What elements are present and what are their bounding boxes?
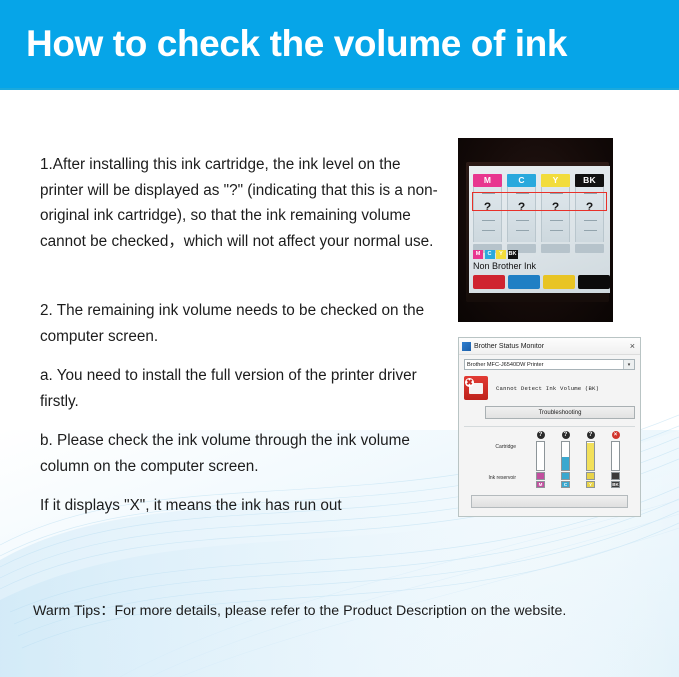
status-monitor-titlebar: Brother Status Monitor × (459, 338, 640, 355)
cartridge-fill-y (587, 443, 594, 470)
reservoir-box-c (561, 472, 570, 480)
lcd-tick (516, 230, 529, 231)
lcd-bottom-button-row (473, 275, 610, 289)
status-error-icon-bk: × (612, 431, 620, 439)
status-question-icon-m: ? (537, 431, 545, 439)
lcd-mini-chip-bk: BK (508, 250, 518, 259)
cartridge-row-label: Cartridge (495, 444, 516, 450)
gauge-chip-y: Y (586, 481, 595, 488)
non-brother-ink-label: Non Brother Ink (473, 261, 536, 271)
lcd-tick (584, 220, 597, 221)
ink-gauge-c: ? C (560, 431, 571, 488)
cartridge-tube-y (586, 441, 595, 471)
printer-error-icon: ✖ (464, 376, 488, 400)
lcd-ink-foot-y (541, 244, 570, 253)
instruction-text-column: 1.After installing this ink cartridge, t… (40, 152, 440, 519)
error-message: Cannot Detect Ink Volume (BK) (496, 385, 599, 392)
gauge-chip-bk: BK (611, 481, 620, 488)
lcd-ink-header-c: C (507, 174, 536, 187)
reservoir-box-m (536, 472, 545, 480)
error-x-glyph: ✖ (465, 378, 474, 387)
lcd-ink-header-y: Y (541, 174, 570, 187)
app-icon (462, 342, 471, 351)
cartridge-tube-c (561, 441, 570, 471)
page-header: How to check the volume of ink (0, 0, 679, 88)
ink-gauge-bk: × BK (610, 431, 621, 488)
instruction-paragraph-2b: b. Please check the ink volume through t… (40, 428, 440, 479)
brother-status-monitor-window: Brother Status Monitor × Brother MFC-J65… (458, 337, 641, 517)
ink-gauge-y: ? Y (585, 431, 596, 488)
divider (464, 426, 635, 427)
chevron-down-icon[interactable]: ▾ (623, 360, 634, 369)
lcd-ink-foot-bk (575, 244, 604, 253)
red-highlight-rectangle (472, 192, 607, 211)
lcd-magenta-button[interactable] (473, 275, 505, 289)
gauge-chip-c: C (561, 481, 570, 488)
close-icon[interactable]: × (628, 342, 637, 351)
reservoir-box-bk (611, 472, 620, 480)
printer-select-value: Brother MFC-J6540DW Printer (467, 362, 623, 368)
lcd-tick (550, 220, 563, 221)
instruction-paragraph-2a: a. You need to install the full version … (40, 363, 440, 414)
lcd-tick (584, 230, 597, 231)
cartridge-fill-c (562, 457, 569, 470)
reservoir-row-label: Ink reservoir (488, 475, 516, 481)
instruction-paragraph-2c: If it displays "X", it means the ink has… (40, 493, 440, 519)
lcd-black-button[interactable] (578, 275, 610, 289)
lcd-tick (482, 230, 495, 231)
troubleshooting-button[interactable]: Troubleshooting (485, 406, 635, 419)
status-monitor-statusbar (471, 495, 628, 508)
lcd-yellow-button[interactable] (543, 275, 575, 289)
lcd-mini-chip-m: M (473, 250, 483, 259)
lcd-cyan-button[interactable] (508, 275, 540, 289)
printer-select-dropdown[interactable]: Brother MFC-J6540DW Printer ▾ (464, 359, 635, 370)
lcd-mini-chip-y: Y (496, 250, 506, 259)
ink-gauge-m: ? M (535, 431, 546, 488)
error-row: ✖ Cannot Detect Ink Volume (BK) (464, 376, 635, 400)
page-title: How to check the volume of ink (26, 23, 567, 65)
lcd-mini-chip-c: C (485, 250, 495, 259)
ink-gauge-area: Cartridge Ink reservoir ? M ? C ? Y × BK (459, 431, 640, 493)
cartridge-tube-bk (611, 441, 620, 471)
lcd-tick (550, 230, 563, 231)
status-question-icon-y: ? (587, 431, 595, 439)
status-monitor-title: Brother Status Monitor (474, 343, 628, 350)
warm-tips-note: Warm Tips：For more details, please refer… (33, 600, 566, 620)
lcd-tick (482, 220, 495, 221)
instruction-paragraph-2-intro: 2. The remaining ink volume needs to be … (40, 298, 440, 349)
lcd-ink-header-bk: BK (575, 174, 604, 187)
status-question-icon-c: ? (562, 431, 570, 439)
gauge-chip-m: M (536, 481, 545, 488)
instruction-paragraph-1: 1.After installing this ink cartridge, t… (40, 152, 440, 254)
lcd-tick (516, 220, 529, 221)
printer-lcd-photo: M ? C ? Y ? (458, 138, 613, 322)
lcd-mini-chip-row: M C Y BK (473, 250, 518, 259)
header-underline (0, 88, 679, 90)
reservoir-box-y (586, 472, 595, 480)
cartridge-tube-m (536, 441, 545, 471)
lcd-ink-header-m: M (473, 174, 502, 187)
printer-lcd-screen: M ? C ? Y ? (469, 166, 610, 293)
